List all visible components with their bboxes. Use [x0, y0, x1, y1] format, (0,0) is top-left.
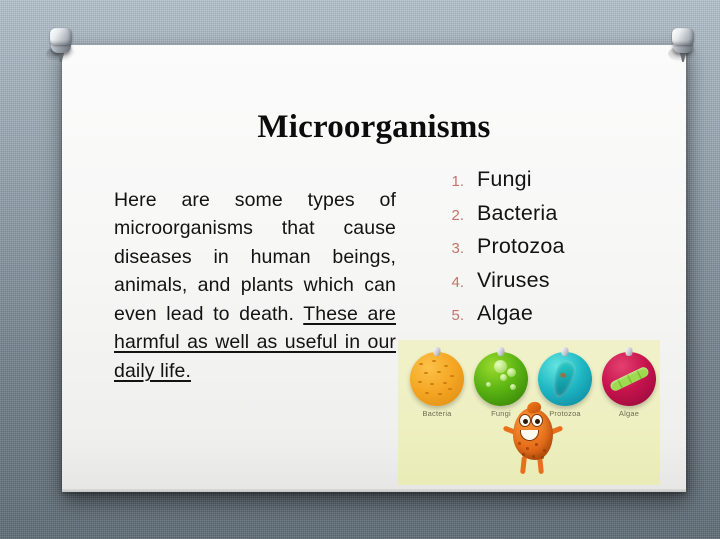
- corkboard-background: Microorganisms Here are some types of mi…: [0, 0, 720, 539]
- circle-pin-icon: [498, 347, 505, 356]
- list-item-number: 1.: [434, 173, 464, 190]
- list-item-label: Bacteria: [477, 201, 557, 226]
- list-item: 4. Viruses: [434, 268, 565, 302]
- list-item-label: Fungi: [477, 167, 532, 192]
- cartoon-germ-mascot-icon: [502, 398, 564, 482]
- circle-label-algae: Algae: [597, 409, 660, 418]
- circle-pin-icon: [626, 347, 633, 356]
- slide-sheet: Microorganisms Here are some types of mi…: [62, 45, 686, 492]
- list-item-label: Viruses: [477, 268, 550, 293]
- list-item-number: 5.: [434, 307, 464, 324]
- circle-pin-icon: [434, 347, 441, 356]
- bacteria-circle-icon: [410, 352, 464, 406]
- list-item-label: Protozoa: [477, 234, 565, 259]
- algae-circle-icon: [602, 352, 656, 406]
- algae-chain-shape: [609, 366, 650, 393]
- list-item: 5. Algae: [434, 301, 565, 335]
- list-item: 1. Fungi: [434, 167, 565, 201]
- list-item-number: 3.: [434, 240, 464, 257]
- circle-label-bacteria: Bacteria: [405, 409, 469, 418]
- list-item: 3. Protozoa: [434, 234, 565, 268]
- page-title: Microorganisms: [62, 109, 686, 146]
- microorganism-illustration: Bacteria Fungi Protozoa Alg: [398, 340, 660, 485]
- microorganism-type-list: 1. Fungi 2. Bacteria 3. Protozoa 4. Viru…: [434, 167, 565, 335]
- body-paragraph: Here are some types of microorganisms th…: [114, 186, 396, 386]
- list-item-number: 2.: [434, 207, 464, 224]
- protozoan-shape: [549, 358, 579, 400]
- list-item-label: Algae: [477, 301, 533, 326]
- list-item-number: 4.: [434, 274, 464, 291]
- list-item: 2. Bacteria: [434, 201, 565, 235]
- circle-pin-icon: [562, 347, 569, 356]
- pushpin-right-icon: [668, 28, 702, 68]
- pushpin-left-icon: [46, 28, 80, 68]
